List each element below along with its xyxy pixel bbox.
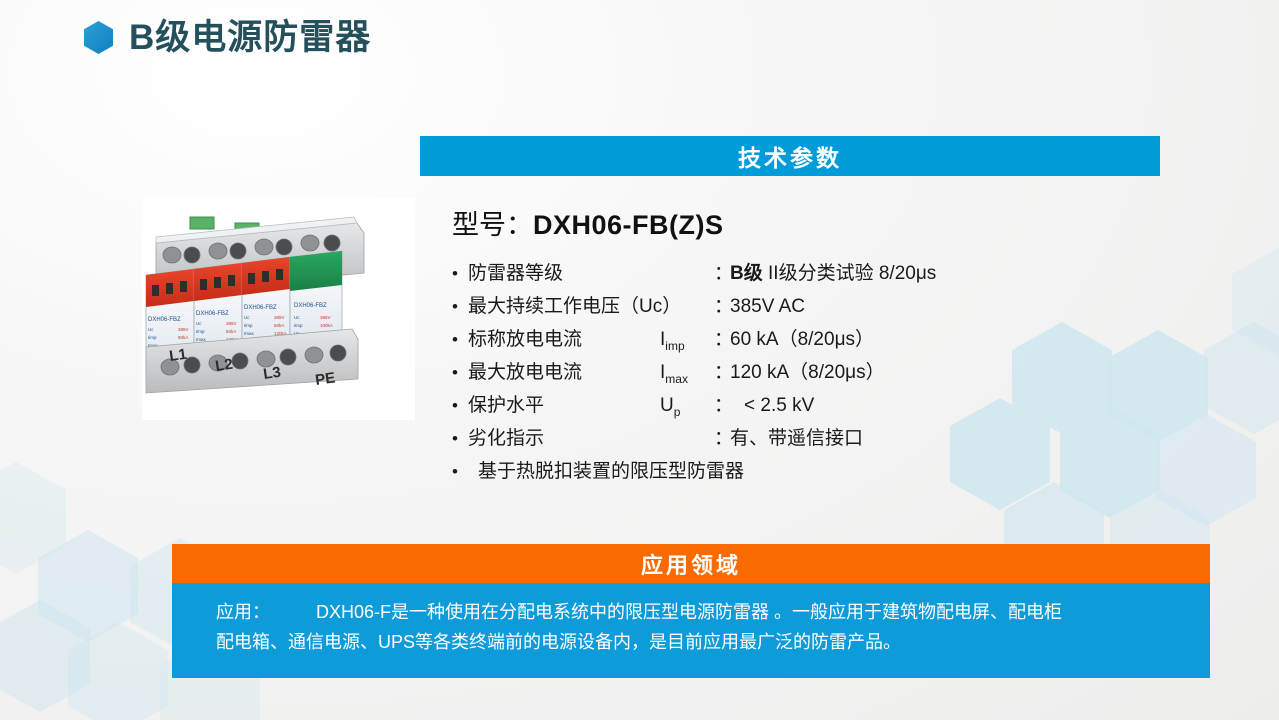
spec-value: B级 II级分类试验 8/20μs (730, 258, 1152, 285)
svg-text:Imax: Imax (244, 331, 255, 336)
hexagon-icon (84, 21, 113, 54)
svg-text:385V: 385V (226, 321, 237, 326)
svg-text:385V: 385V (274, 315, 285, 320)
svg-text:Iimp: Iimp (244, 323, 253, 328)
application-line-2: 配电箱、通信电源、UPS等各类终端前的电源设备内，是目前应用最广泛的防雷产品。 (216, 627, 1194, 657)
svg-text:60kA: 60kA (178, 335, 188, 340)
spec-colon: ： (714, 258, 730, 285)
application-lead-label: 应用： (216, 602, 270, 622)
spec-symbol: Up (660, 395, 714, 419)
spec-name: 劣化指示 (468, 423, 660, 450)
model-number: 型号：DXH06-FB(Z)S (452, 203, 724, 242)
spec-row: • 最大持续工作电压（Uc） ： 385V AC (452, 291, 1152, 324)
spec-list: • 防雷器等级 ： B级 II级分类试验 8/20μs • 最大持续工作电压（U… (452, 258, 1152, 489)
hexagon-shape (1156, 414, 1256, 526)
spec-colon: ： (714, 423, 730, 450)
bullet-icon: • (452, 364, 468, 381)
spec-value: < 2.5 kV (730, 395, 1152, 417)
spec-value: 有、带遥信接口 (730, 423, 1152, 450)
spec-symbol-sub: max (665, 372, 688, 386)
svg-text:DXH06-FBZ: DXH06-FBZ (196, 311, 229, 317)
application-header-label: 应用领域 (641, 548, 741, 580)
spec-row: • 防雷器等级 ： B级 II级分类试验 8/20μs (452, 258, 1152, 291)
spec-symbol-sub: imp (665, 339, 684, 353)
spec-symbol: Iimp (660, 329, 714, 353)
bullet-icon: • (452, 265, 468, 282)
svg-text:DXH06-FBZ: DXH06-FBZ (148, 317, 181, 323)
spec-row: • 劣化指示 ： 有、带遥信接口 (452, 423, 1152, 456)
spec-colon: ： (714, 324, 730, 351)
slide-canvas: B级电源防雷器 技术参数 (0, 0, 1279, 720)
hexagon-shape (0, 462, 66, 574)
application-line-1-text: DXH06-F是一种使用在分配电系统中的限压型电源防雷器 。一般应用于建筑物配电… (316, 602, 1062, 622)
bullet-icon: • (452, 298, 468, 315)
spec-value-rest: II级分类试验 8/20μs (763, 263, 937, 284)
svg-text:L1: L1 (168, 346, 188, 365)
bullet-icon: • (452, 430, 468, 447)
application-header: 应用领域 (172, 544, 1210, 583)
page-title-text: B级电源防雷器 (129, 20, 371, 55)
spec-colon: ： (714, 357, 730, 384)
product-image: N DXH06-FBZ 385V60kA120kA UcIimpImax DXH… (142, 197, 415, 420)
spec-symbol: Imax (660, 362, 714, 386)
page-title: B级电源防雷器 (84, 20, 371, 55)
spd-device-illustration: N DXH06-FBZ 385V60kA120kA UcIimpImax DXH… (142, 197, 415, 420)
spec-colon: ： (714, 390, 730, 417)
svg-text:L2: L2 (214, 356, 234, 375)
svg-text:Uc: Uc (196, 321, 202, 326)
bullet-icon: • (452, 397, 468, 414)
bullet-icon: • (452, 331, 468, 348)
spec-name: 防雷器等级 (468, 258, 660, 285)
spec-value: 385V AC (730, 296, 1152, 318)
spec-row-note: • 基于热脱扣装置的限压型防雷器 (452, 456, 1152, 489)
spec-value: 120 kA（8/20μs） (730, 357, 1152, 384)
spec-name: 保护水平 (468, 390, 660, 417)
svg-text:Iimp: Iimp (294, 323, 303, 328)
spec-symbol-base: U (660, 395, 674, 416)
spec-colon: ： (714, 291, 730, 318)
spec-name: 最大放电电流 (468, 357, 660, 384)
svg-text:60kA: 60kA (226, 329, 236, 334)
svg-text:100kA: 100kA (320, 323, 333, 328)
tech-params-header: 技术参数 (420, 136, 1160, 176)
svg-text:L3: L3 (262, 364, 282, 383)
svg-text:60kA: 60kA (274, 323, 284, 328)
svg-text:Iimp: Iimp (148, 335, 157, 340)
application-body: 应用：DXH06-F是一种使用在分配电系统中的限压型电源防雷器 。一般应用于建筑… (172, 583, 1210, 678)
spec-value-bold: B级 (730, 263, 763, 284)
spec-name: 标称放电电流 (468, 324, 660, 351)
hexagon-shape (38, 530, 138, 642)
svg-text:Uc: Uc (148, 327, 154, 332)
svg-text:Uc: Uc (294, 315, 300, 320)
hexagon-shape (1204, 322, 1279, 434)
spec-name: 最大持续工作电压（Uc） (468, 291, 660, 318)
spec-symbol-sub: p (674, 405, 681, 419)
tech-params-header-label: 技术参数 (738, 139, 842, 173)
svg-text:Uc: Uc (244, 315, 250, 320)
model-label: 型号： (452, 210, 533, 240)
hexagon-shape (0, 600, 90, 712)
spec-row: • 最大放电电流 Imax ： 120 kA（8/20μs） (452, 357, 1152, 390)
spec-row: • 标称放电电流 Iimp ： 60 kA（8/20μs） (452, 324, 1152, 357)
hexagon-shape (68, 622, 168, 720)
svg-text:PE: PE (314, 369, 336, 389)
spec-row: • 保护水平 Up ： < 2.5 kV (452, 390, 1152, 423)
spec-note-text: 基于热脱扣装置的限压型防雷器 (468, 456, 744, 483)
application-line-1: 应用：DXH06-F是一种使用在分配电系统中的限压型电源防雷器 。一般应用于建筑… (216, 597, 1194, 627)
model-value: DXH06-FB(Z)S (533, 210, 724, 240)
svg-text:DXH06-FBZ: DXH06-FBZ (294, 303, 327, 309)
svg-text:385V: 385V (320, 315, 331, 320)
svg-text:DXH06-FBZ: DXH06-FBZ (244, 305, 277, 311)
bullet-icon: • (452, 463, 468, 480)
svg-text:Imax: Imax (196, 337, 207, 342)
spec-value: 60 kA（8/20μs） (730, 324, 1152, 351)
svg-text:385V: 385V (178, 327, 189, 332)
svg-text:Iimp: Iimp (196, 329, 205, 334)
hexagon-shape (1232, 246, 1279, 358)
